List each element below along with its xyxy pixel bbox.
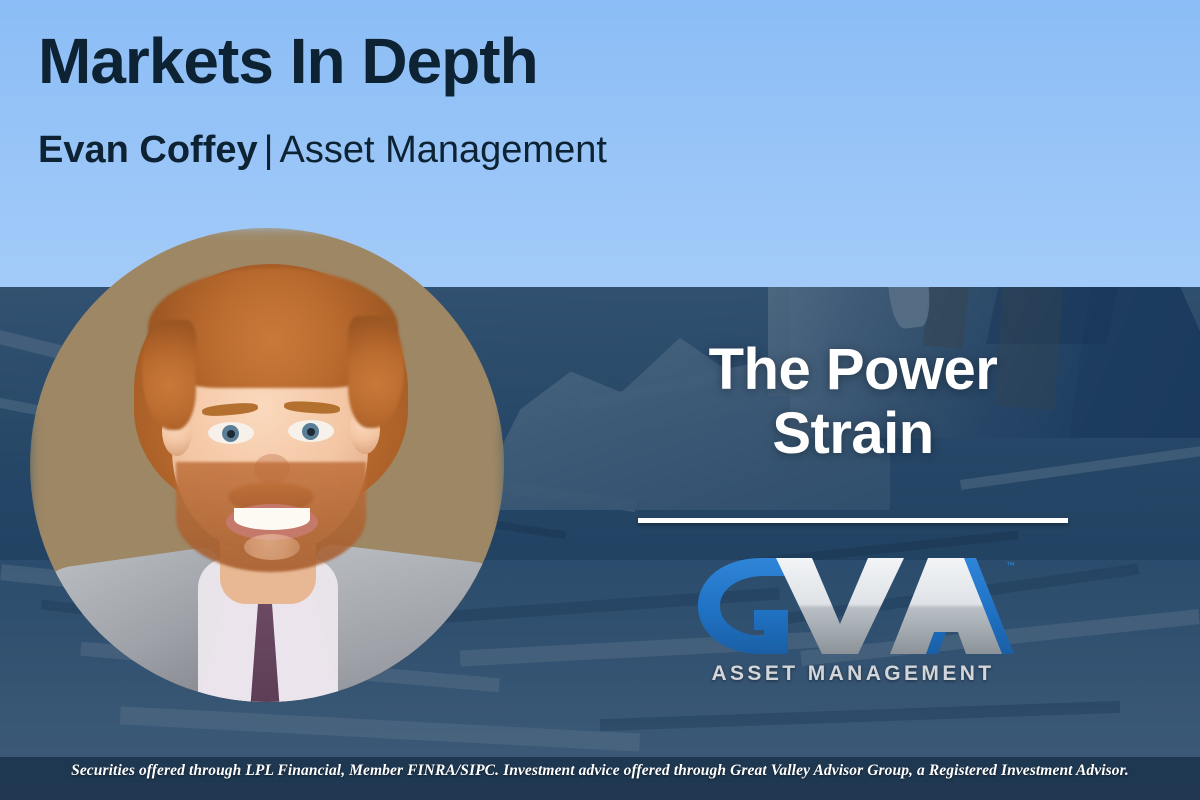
article-title-line-1: The Power <box>638 338 1068 402</box>
title-divider-rule <box>638 518 1068 523</box>
byline-separator: | <box>258 129 280 171</box>
author-name: Evan Coffey <box>38 129 258 171</box>
article-title-line-2: Strain <box>638 402 1068 466</box>
department-label: Asset Management <box>280 129 607 171</box>
legal-disclaimer: Securities offered through LPL Financial… <box>71 762 1129 779</box>
article-title: The Power Strain <box>638 338 1068 466</box>
page-title: Markets In Depth <box>38 28 538 95</box>
gva-logo-mark: ™ <box>688 552 1018 660</box>
gva-logo[interactable]: ™ ASSET MANAGEMENT <box>638 552 1068 686</box>
trademark-glyph: ™ <box>1006 560 1015 570</box>
portrait-figure <box>30 228 504 702</box>
byline: Evan Coffey|Asset Management <box>38 128 607 174</box>
gva-logo-subtitle: ASSET MANAGEMENT <box>638 662 1068 686</box>
banner-canvas: Markets In Depth Evan Coffey|Asset Manag… <box>0 0 1200 800</box>
gva-logo-svg: ™ <box>688 552 1018 660</box>
avatar <box>30 228 504 702</box>
